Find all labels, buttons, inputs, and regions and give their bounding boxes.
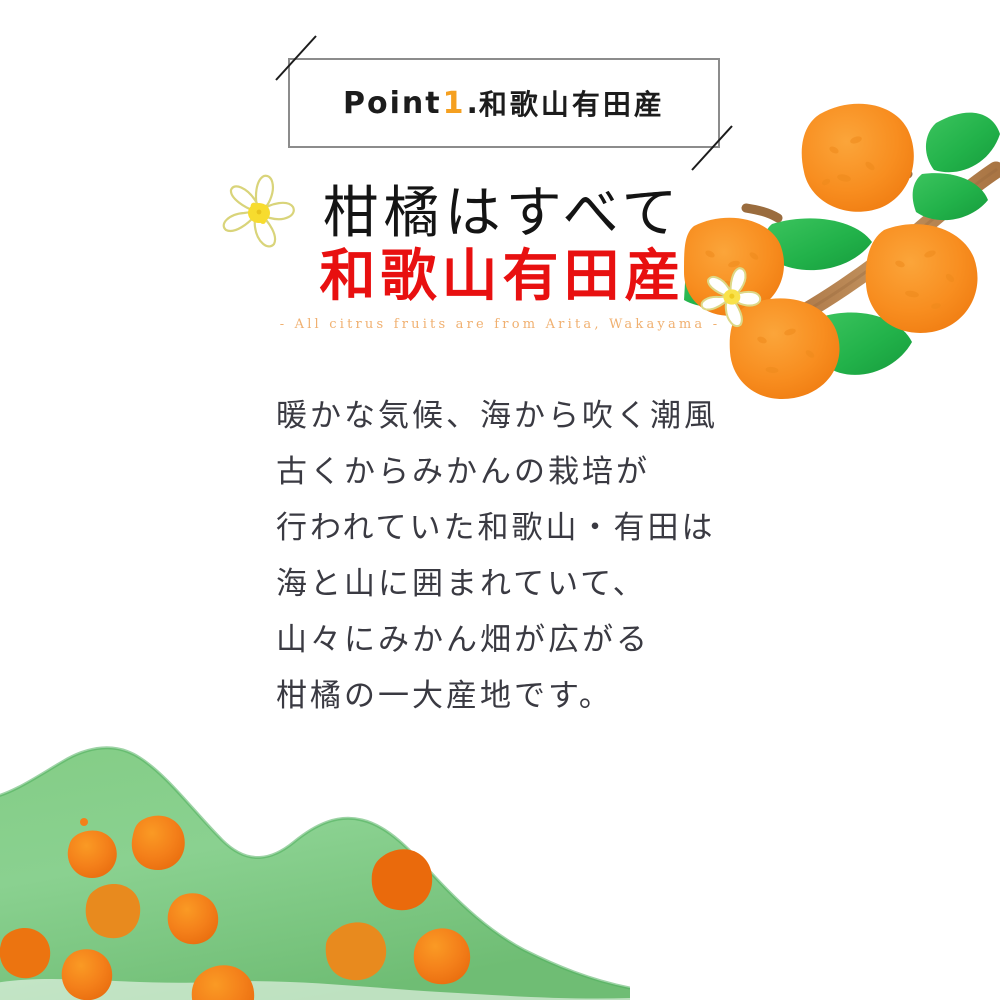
- headline-line-2: 和歌山有田産: [0, 248, 1000, 304]
- orchard-fruit-dot: [168, 893, 218, 944]
- headline-subtitle: - All citrus fruits are from Arita, Waka…: [0, 318, 1000, 331]
- orchard-fruit-dot: [192, 965, 254, 1000]
- headline-line-1: 柑橘はすべて: [0, 186, 1000, 242]
- point-badge-dot: .: [467, 86, 479, 121]
- body-copy-line: 暖かな気候、海から吹く潮風: [276, 388, 796, 444]
- headline-block: 柑橘はすべて 和歌山有田産 - All citrus fruits are fr…: [0, 186, 1000, 331]
- body-copy-line: 古くからみかんの栽培が: [276, 444, 796, 500]
- orchard-fruit-dot: [0, 928, 50, 978]
- promo-page: Point1.和歌山有田産 柑橘はすべて 和歌山有田産 - All citrus…: [0, 0, 1000, 1000]
- point-badge: Point1.和歌山有田産: [288, 58, 720, 148]
- orchard-fruit-dot: [86, 884, 140, 938]
- point-badge-suffix: 和歌山有田産: [479, 83, 665, 123]
- point-badge-text: Point1.和歌山有田産: [290, 60, 718, 146]
- point-badge-number: 1: [442, 86, 467, 121]
- orchard-fruit-dot: [372, 849, 432, 910]
- body-copy-line: 海と山に囲まれていて、: [276, 556, 796, 612]
- body-copy-line: 行われていた和歌山・有田は: [276, 500, 796, 556]
- body-copy: 暖かな気候、海から吹く潮風 古くからみかんの栽培が 行われていた和歌山・有田は …: [276, 388, 796, 724]
- orchard-fruit-dot: [414, 928, 470, 984]
- leaf-icon: [926, 113, 1000, 173]
- body-copy-line: 柑橘の一大産地です。: [276, 668, 796, 724]
- orchard-hill-illustration: [0, 736, 630, 1000]
- orchard-fruit-dot: [62, 949, 112, 1000]
- orchard-fruit-dot: [326, 922, 386, 980]
- orchard-fruit-dot: [132, 816, 185, 870]
- orchard-fruit-dot: [68, 818, 117, 878]
- body-copy-line: 山々にみかん畑が広がる: [276, 612, 796, 668]
- point-badge-prefix: Point: [343, 86, 442, 121]
